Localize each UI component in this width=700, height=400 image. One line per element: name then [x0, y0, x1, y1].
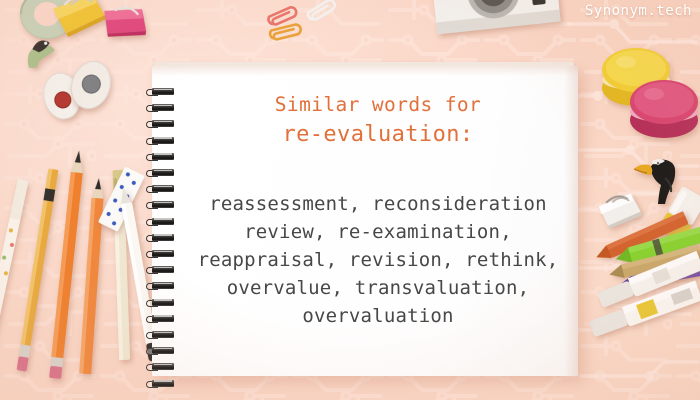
screenshot-scene: Similar words for re-evaluation: reasses…	[0, 0, 700, 400]
synonym-line: reassessment, reconsideration	[190, 190, 566, 218]
binder-clip-pink	[98, 1, 153, 46]
spiral-ring	[146, 250, 176, 257]
site-watermark: Synonym.tech	[585, 3, 692, 19]
page-top-shading	[152, 66, 578, 76]
synonym-line: review, re-examination,	[190, 218, 566, 246]
spiral-binding	[146, 88, 180, 400]
synonym-line: reappraisal, revision, rethink,	[190, 246, 566, 274]
spiral-ring	[146, 282, 176, 289]
page-right-shading	[564, 66, 578, 376]
notebook-page: Similar words for re-evaluation: reasses…	[152, 66, 578, 376]
synonym-list: reassessment, reconsideration review, re…	[190, 190, 566, 330]
notebook: Similar words for re-evaluation: reasses…	[152, 66, 578, 376]
spiral-ring	[146, 347, 176, 354]
spiral-ring	[146, 153, 176, 160]
spiral-ring	[146, 218, 176, 225]
spiral-ring	[146, 234, 176, 241]
macaron-pink	[628, 78, 700, 140]
spiral-ring	[146, 137, 176, 144]
spiral-ring	[146, 380, 176, 387]
spiral-ring	[146, 185, 176, 192]
spiral-ring	[146, 315, 176, 322]
page-title-headword: re-evaluation:	[190, 120, 566, 150]
spiral-ring	[146, 169, 176, 176]
page-title-line1: Similar words for	[190, 90, 566, 120]
spiral-ring	[146, 120, 176, 127]
synonym-line: overvalue, transvaluation,	[190, 274, 566, 302]
spiral-ring	[146, 331, 176, 338]
bird-eraser	[19, 33, 63, 72]
spiral-ring	[146, 88, 176, 95]
spiral-ring	[146, 363, 176, 370]
spiral-ring	[146, 266, 176, 273]
spiral-ring	[146, 299, 176, 306]
spiral-ring	[146, 201, 176, 208]
spiral-ring	[146, 104, 176, 111]
synonym-line: overvaluation	[190, 302, 566, 330]
page-text-block: Similar words for re-evaluation: reasses…	[190, 90, 566, 330]
